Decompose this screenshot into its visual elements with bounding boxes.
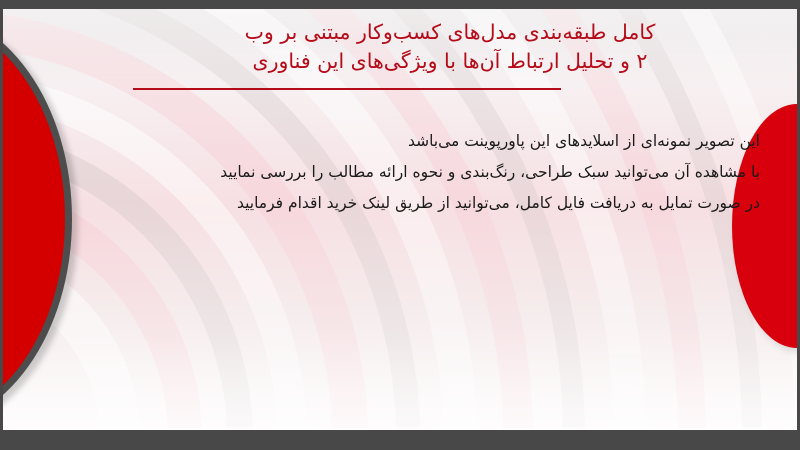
title-underline-rule (133, 88, 561, 90)
body-line-2: با مشاهده آن می‌توانید سبک طراحی، رنگ‌بن… (100, 157, 760, 188)
body-line-1: این تصویر نمونه‌ای از اسلایدهای این پاور… (100, 126, 760, 157)
slide-title: کامل طبقه‌بندی مدل‌های کسب‌وکار مبتنی بر… (120, 18, 780, 76)
slide-canvas: کامل طبقه‌بندی مدل‌های کسب‌وکار مبتنی بر… (0, 0, 800, 450)
frame-bar-bottom (0, 430, 800, 450)
title-line-1: کامل طبقه‌بندی مدل‌های کسب‌وکار مبتنی بر… (120, 18, 780, 47)
title-line-2: ۲ و تحلیل ارتباط آن‌ها با ویژگی‌های این … (120, 47, 780, 76)
slide-body: این تصویر نمونه‌ای از اسلایدهای این پاور… (100, 126, 760, 219)
body-line-3: در صورت تمایل به دریافت فایل کامل، می‌تو… (100, 188, 760, 219)
slide-background: کامل طبقه‌بندی مدل‌های کسب‌وکار مبتنی بر… (0, 8, 800, 430)
frame-bar-top (0, 0, 800, 9)
frame-edge-left (0, 0, 3, 450)
